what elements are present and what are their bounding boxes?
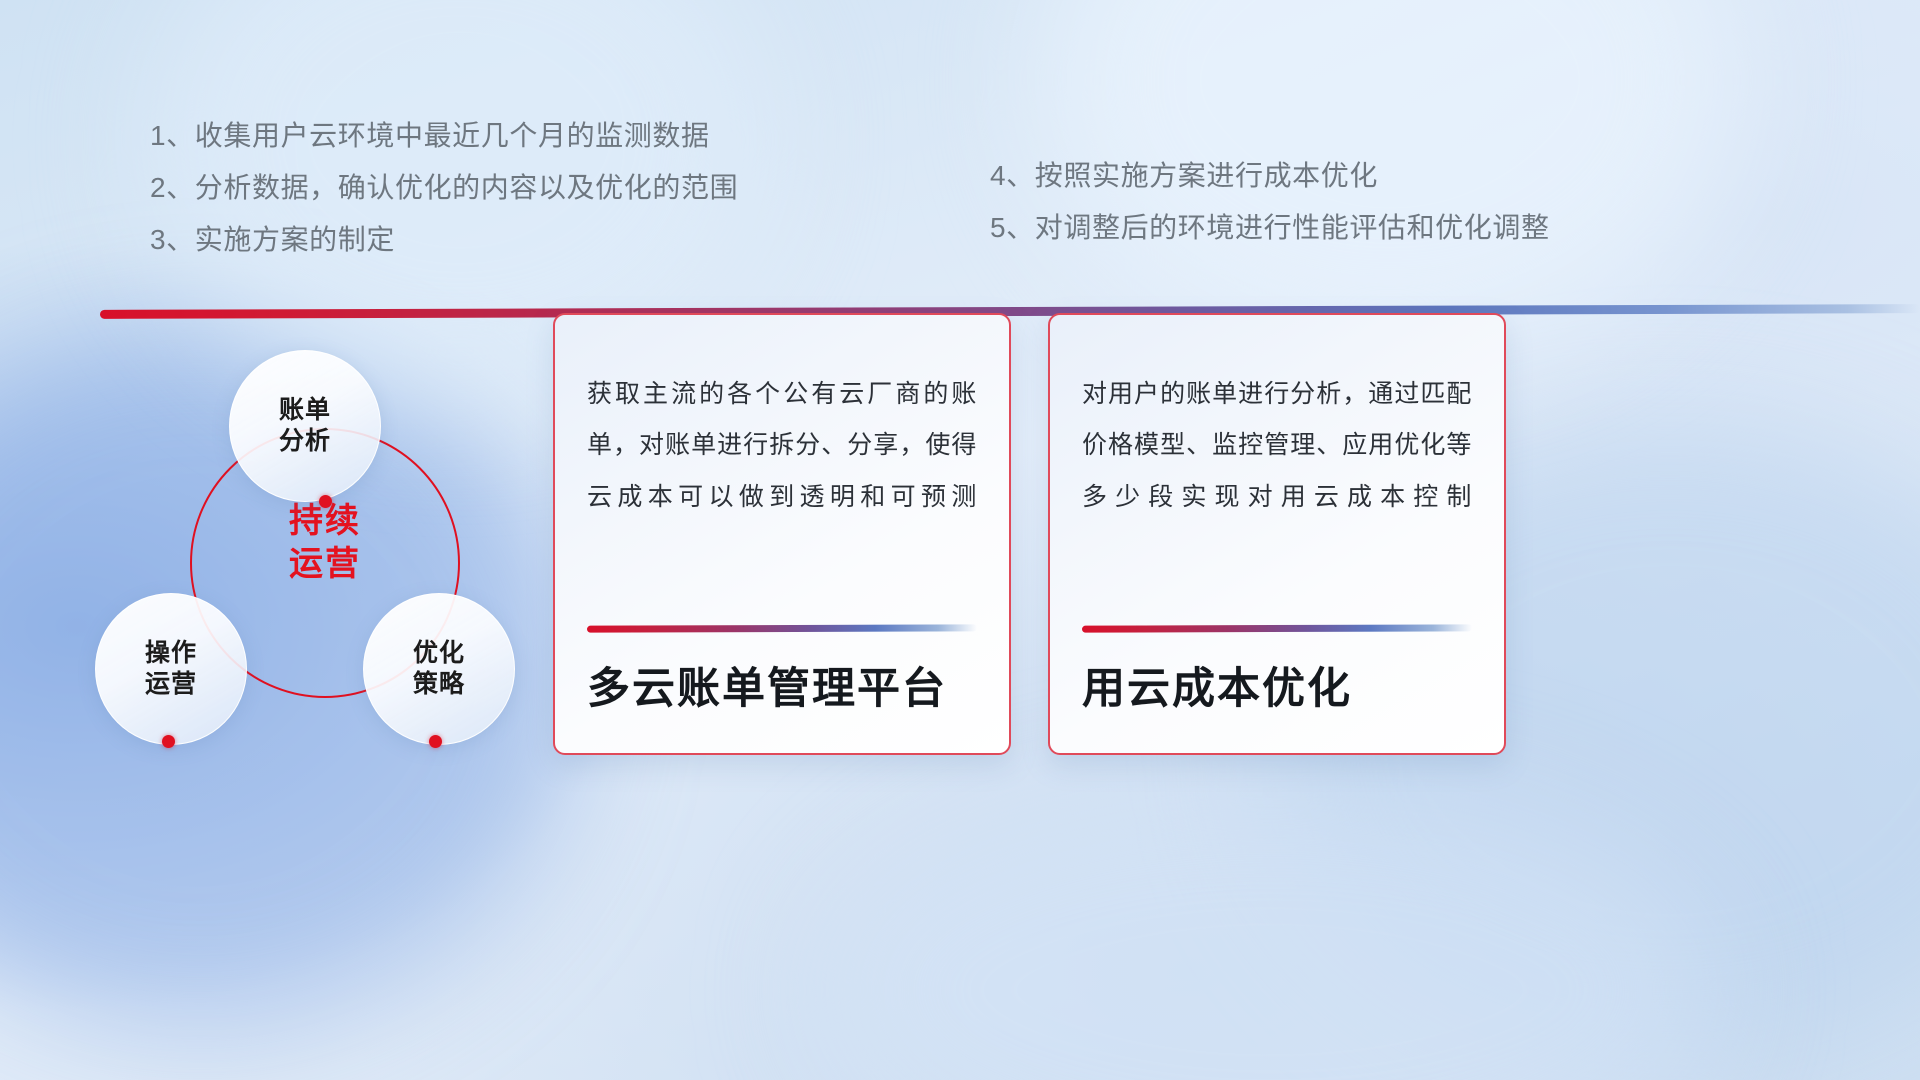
venn-node-dot-right (429, 735, 442, 748)
venn-bubble-left-label: 操作 运营 (145, 638, 197, 701)
venn-center-line-2: 运营 (190, 543, 460, 586)
venn-bubble-right-label: 优化 策略 (413, 638, 465, 701)
venn-node-dot-left (162, 735, 175, 748)
venn-diagram: 持续 运营 账单 分析 操作 运营 优化 策略 (95, 350, 565, 780)
venn-bubble-right-line-2: 策略 (413, 669, 465, 701)
info-card-1-divider (587, 624, 977, 632)
background-blob-bottom (820, 780, 1720, 1080)
venn-bubble-right-line-1: 优化 (413, 638, 465, 670)
venn-center-label: 持续 运营 (190, 500, 460, 586)
step-item-2: 2、分析数据，确认优化的内容以及优化的范围 (150, 174, 990, 202)
info-card-cost-optimization[interactable]: 对用户的账单进行分析，通过匹配价格模型、监控管理、应用优化等多少段实现对用云成本… (1048, 313, 1506, 755)
venn-bubble-top-line-1: 账单 (279, 395, 331, 427)
venn-bubble-left-line-2: 运营 (145, 669, 197, 701)
info-card-2-title: 用云成本优化 (1082, 666, 1472, 713)
venn-bubble-operations[interactable]: 操作 运营 (95, 593, 247, 745)
slide-root: 1、收集用户云环境中最近几个月的监测数据 2、分析数据，确认优化的内容以及优化的… (0, 0, 1920, 1080)
step-item-5: 5、对调整后的环境进行性能评估和优化调整 (990, 214, 1750, 242)
venn-bubble-optimization-strategy[interactable]: 优化 策略 (363, 593, 515, 745)
info-card-1-body: 获取主流的各个公有云厂商的账单，对账单进行拆分、分享，使得云成本可以做到透明和可… (587, 369, 977, 523)
step-item-4: 4、按照实施方案进行成本优化 (990, 162, 1750, 190)
step-item-3: 3、实施方案的制定 (150, 226, 990, 254)
info-card-1-title: 多云账单管理平台 (587, 666, 977, 713)
venn-bubble-top-label: 账单 分析 (279, 395, 331, 458)
steps-section: 1、收集用户云环境中最近几个月的监测数据 2、分析数据，确认优化的内容以及优化的… (150, 122, 1790, 278)
venn-bubble-left-line-1: 操作 (145, 638, 197, 670)
venn-bubble-top-line-2: 分析 (279, 426, 331, 458)
steps-column-right: 4、按照实施方案进行成本优化 5、对调整后的环境进行性能评估和优化调整 (990, 122, 1750, 266)
section-divider (100, 304, 1920, 319)
venn-bubble-billing-analysis[interactable]: 账单 分析 (229, 350, 381, 502)
steps-column-left: 1、收集用户云环境中最近几个月的监测数据 2、分析数据，确认优化的内容以及优化的… (150, 122, 990, 278)
info-card-multicloud-billing[interactable]: 获取主流的各个公有云厂商的账单，对账单进行拆分、分享，使得云成本可以做到透明和可… (553, 313, 1011, 755)
venn-node-dot-top (319, 495, 332, 508)
info-card-2-body: 对用户的账单进行分析，通过匹配价格模型、监控管理、应用优化等多少段实现对用云成本… (1082, 369, 1472, 523)
info-card-2-divider (1082, 624, 1472, 632)
step-item-1: 1、收集用户云环境中最近几个月的监测数据 (150, 122, 990, 150)
